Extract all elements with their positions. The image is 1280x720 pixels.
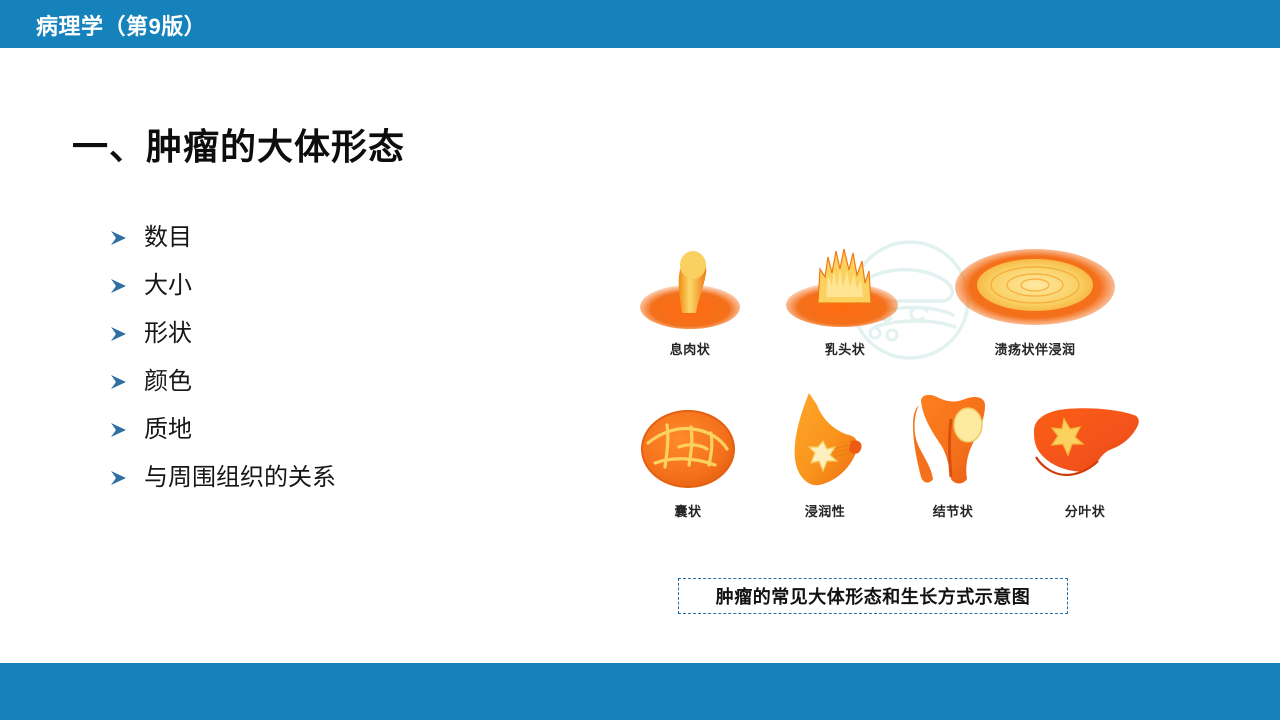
- arrow-head-bullet-icon: [110, 374, 144, 390]
- arrow-head-bullet-icon: [110, 230, 144, 246]
- figure-row-bottom: 囊状: [600, 387, 1160, 537]
- list-item[interactable]: 大小: [110, 262, 510, 310]
- figure-caption: 浸润性: [760, 501, 890, 520]
- figure-item-ulcerative: 溃疡状伴浸润: [935, 225, 1135, 358]
- nodular-uterus-illustration: [888, 387, 1018, 497]
- header-bar: 病理学（第9版）: [0, 0, 1280, 48]
- arrow-head-bullet-icon: [110, 470, 144, 486]
- arrow-head-bullet-icon: [110, 278, 144, 294]
- list-item[interactable]: 颜色: [110, 358, 510, 406]
- page-title: 一、肿瘤的大体形态: [72, 118, 405, 170]
- tumor-morphology-figure: 息肉状: [600, 215, 1160, 545]
- figure-item-infiltrative: 浸润性: [760, 387, 890, 520]
- arrow-head-bullet-icon: [110, 326, 144, 342]
- bullet-list: 数目 大小 形状 颜色 质地: [110, 214, 510, 502]
- list-item-label: 颜色: [144, 370, 192, 394]
- list-item-label: 质地: [144, 418, 192, 442]
- header-title: 病理学（第9版）: [36, 9, 206, 41]
- figure-item-lobulated: 分叶状: [1015, 387, 1155, 520]
- list-item[interactable]: 与周围组织的关系: [110, 454, 510, 502]
- figure-item-papillary: 乳头状: [765, 225, 925, 358]
- figure-caption: 息肉状: [615, 339, 765, 358]
- figure-item-polypoid: 息肉状: [615, 225, 765, 358]
- figure-item-cystic: 囊状: [618, 387, 758, 520]
- figure-caption: 分叶状: [1015, 501, 1155, 520]
- figure-caption-box-text: 肿瘤的常见大体形态和生长方式示意图: [716, 583, 1031, 609]
- polypoid-tumor-illustration: [615, 225, 765, 335]
- ulcerative-infiltrating-tumor-illustration: [935, 225, 1135, 335]
- list-item[interactable]: 数目: [110, 214, 510, 262]
- papillary-tumor-illustration: [765, 225, 925, 335]
- arrow-head-bullet-icon: [110, 422, 144, 438]
- list-item-label: 大小: [144, 274, 192, 298]
- lobulated-liver-illustration: [1015, 387, 1155, 497]
- figure-item-nodular: 结节状: [888, 387, 1018, 520]
- list-item-label: 数目: [144, 226, 192, 250]
- figure-caption: 乳头状: [765, 339, 925, 358]
- figure-caption-box: 肿瘤的常见大体形态和生长方式示意图: [678, 578, 1068, 614]
- list-item[interactable]: 质地: [110, 406, 510, 454]
- figure-caption: 结节状: [888, 501, 1018, 520]
- cystic-tumor-illustration: [618, 387, 758, 497]
- figure-caption: 囊状: [618, 501, 758, 520]
- infiltrative-breast-illustration: [760, 387, 890, 497]
- list-item-label: 与周围组织的关系: [144, 466, 336, 490]
- footer-bar: [0, 663, 1280, 720]
- list-item-label: 形状: [144, 322, 192, 346]
- list-item[interactable]: 形状: [110, 310, 510, 358]
- figure-caption: 溃疡状伴浸润: [935, 339, 1135, 358]
- figure-row-top: 息肉状: [600, 225, 1160, 375]
